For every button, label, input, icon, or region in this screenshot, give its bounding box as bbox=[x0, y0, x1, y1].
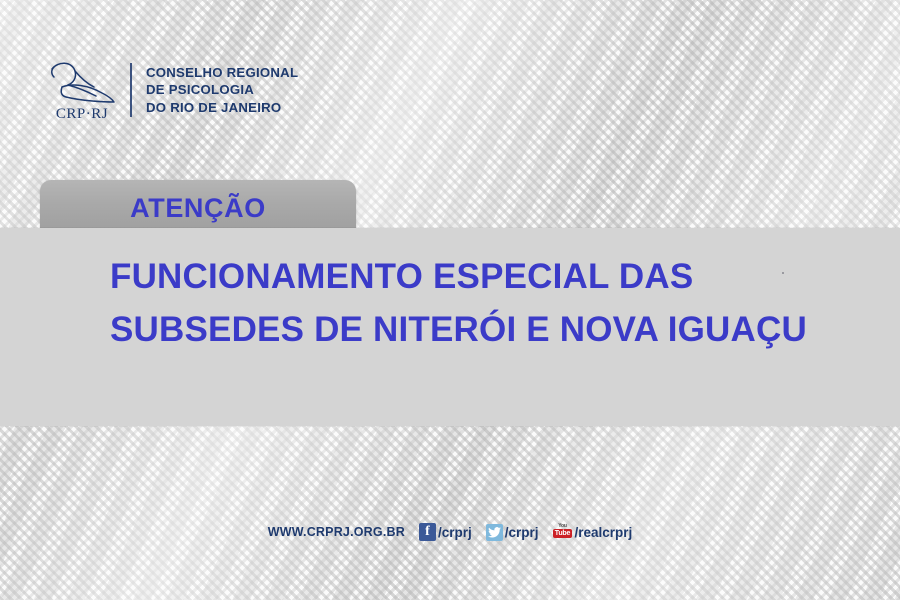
attention-tab: ATENÇÃO bbox=[40, 180, 356, 232]
twitter-link[interactable]: /crprj bbox=[486, 524, 539, 541]
youtube-icon: You Tube bbox=[552, 523, 572, 541]
facebook-icon: f bbox=[419, 523, 436, 541]
youtube-link[interactable]: You Tube /realcrprj bbox=[552, 523, 632, 541]
twitter-icon bbox=[486, 524, 503, 541]
website-url[interactable]: WWW.CRPRJ.ORG.BR bbox=[268, 525, 405, 539]
youtube-icon-bottom: Tube bbox=[553, 529, 572, 538]
brand-logo: CRP·RJ CONSELHO REGIONAL DE PSICOLOGIA D… bbox=[42, 55, 298, 125]
logo-wordmark: CRP·RJ bbox=[56, 106, 108, 122]
footer-bar: WWW.CRPRJ.ORG.BR f /crprj /crprj You Tub… bbox=[0, 518, 900, 546]
headline-block: FUNCIONAMENTO ESPECIAL DAS SUBSEDES DE N… bbox=[110, 250, 870, 356]
texture-speck bbox=[674, 270, 676, 272]
facebook-handle: /crprj bbox=[438, 525, 472, 540]
main-panel: FUNCIONAMENTO ESPECIAL DAS SUBSEDES DE N… bbox=[0, 228, 900, 426]
logo-divider bbox=[130, 63, 132, 117]
facebook-link[interactable]: f /crprj bbox=[419, 523, 472, 541]
logo-line-3: DO RIO DE JANEIRO bbox=[146, 99, 298, 116]
twitter-handle: /crprj bbox=[505, 525, 539, 540]
crp-rj-bird-logo-icon: CRP·RJ bbox=[42, 57, 122, 123]
poster-canvas: CRP·RJ CONSELHO REGIONAL DE PSICOLOGIA D… bbox=[0, 0, 900, 600]
youtube-handle: /realcrprj bbox=[574, 525, 632, 540]
logo-line-1: CONSELHO REGIONAL bbox=[146, 64, 298, 81]
headline-line-1: FUNCIONAMENTO ESPECIAL DAS bbox=[110, 250, 870, 303]
logo-line-2: DE PSICOLOGIA bbox=[146, 81, 298, 98]
headline-line-2: SUBSEDES DE NITERÓI E NOVA IGUAÇU bbox=[110, 303, 870, 356]
texture-speck bbox=[782, 272, 784, 274]
attention-tab-label: ATENÇÃO bbox=[130, 193, 266, 224]
logo-text-block: CONSELHO REGIONAL DE PSICOLOGIA DO RIO D… bbox=[146, 64, 298, 115]
